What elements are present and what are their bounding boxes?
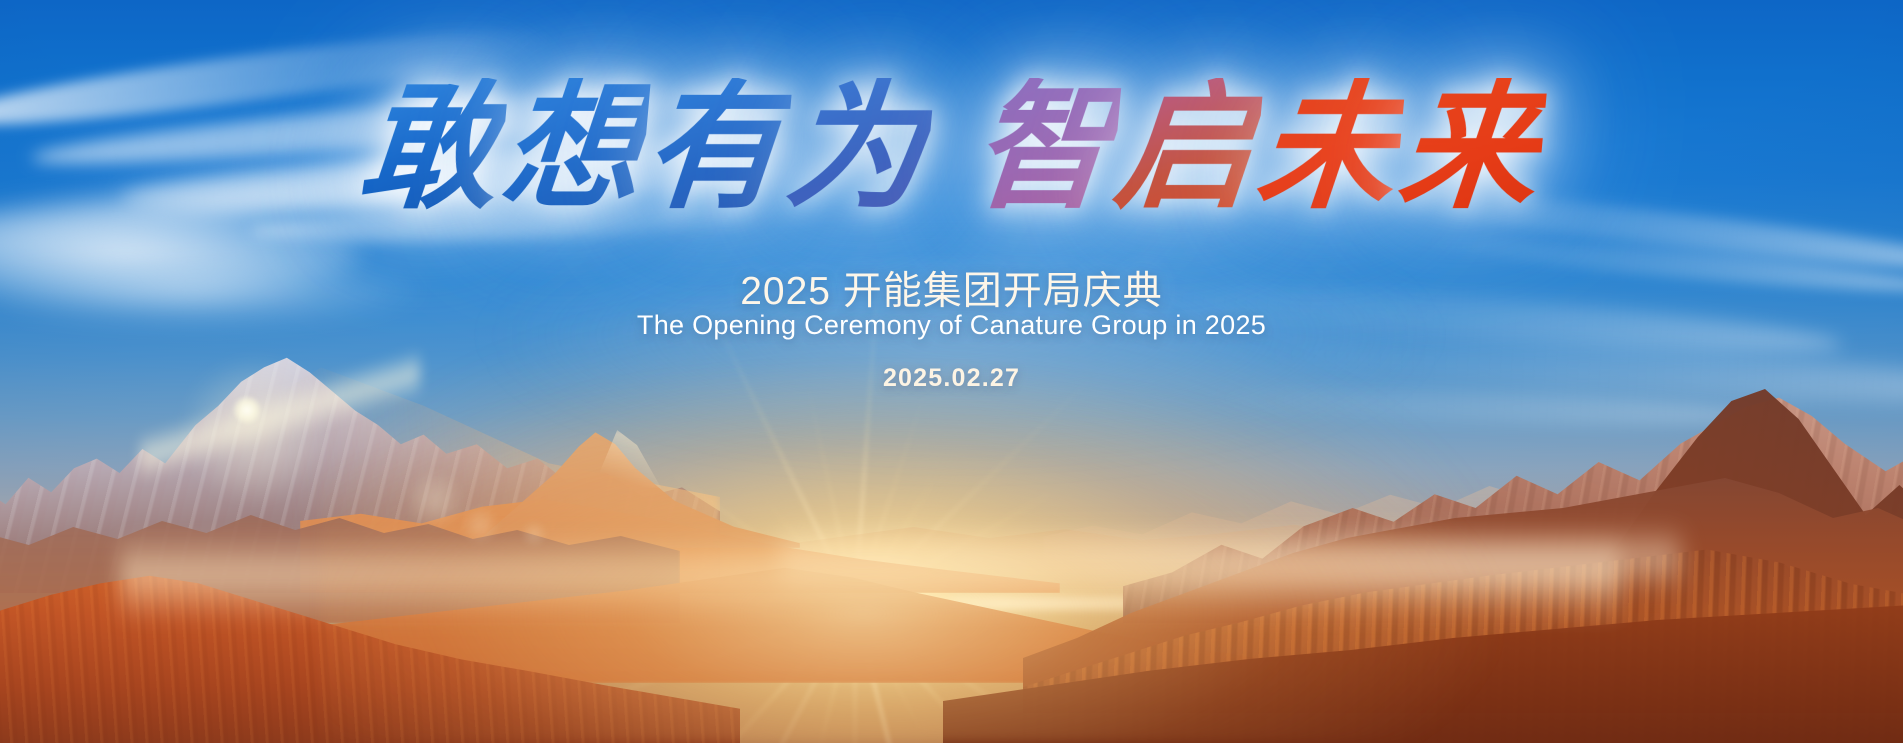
banner-content: 敢想有为智启未来 2025 开能集团开局庆典 The Opening Cerem… <box>0 0 1903 743</box>
subtitle-english: The Opening Ceremony of Canature Group i… <box>0 310 1903 341</box>
headline-char-2: 想 <box>497 78 651 216</box>
calligraphy-headline: 敢想有为智启未来 <box>0 78 1903 216</box>
headline-char-4: 为 <box>781 78 935 216</box>
event-banner: 敢想有为智启未来 2025 开能集团开局庆典 The Opening Cerem… <box>0 0 1903 743</box>
subtitle-chinese: 2025 开能集团开局庆典 <box>0 260 1903 316</box>
headline-char-5: 智 <box>967 78 1121 216</box>
headline-char-3: 有 <box>639 78 793 216</box>
event-date: 2025.02.27 <box>0 364 1903 393</box>
headline-char-8: 来 <box>1394 78 1548 216</box>
headline-char-1: 敢 <box>355 78 509 216</box>
headline-char-7: 未 <box>1251 78 1405 216</box>
headline-char-6: 启 <box>1109 78 1263 216</box>
